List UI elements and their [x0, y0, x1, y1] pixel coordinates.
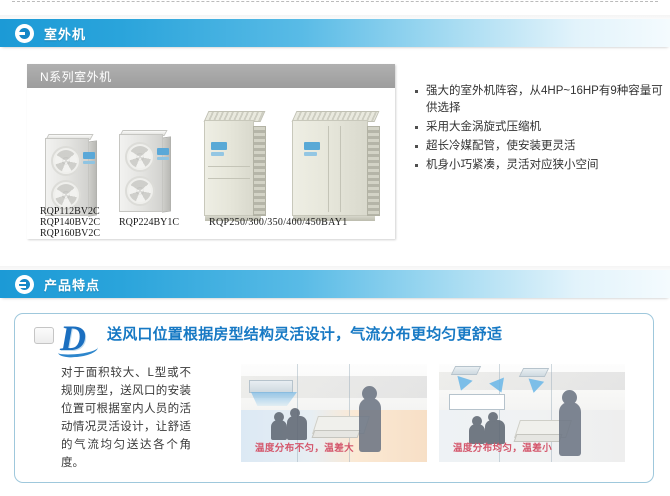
- section-title-product-features: 产品特点: [44, 275, 100, 294]
- feature-title: 送风口位置根据房型结构灵活设计，气流分布更均匀更舒适: [107, 323, 502, 344]
- feature-panel-airflow: D 送风口位置根据房型结构灵活设计，气流分布更均匀更舒适 对于面积较大、L型或不…: [14, 313, 654, 483]
- product-image-rqp250-450-twin: [292, 120, 380, 216]
- air-vent-icon: [249, 380, 293, 393]
- model-labels: RQP112BV2C RQP140BV2C RQP160BV2C RQP224B…: [27, 206, 407, 242]
- list-item: 强大的室外机阵容，从4HP~16HP有9种容量可供选择: [414, 83, 664, 117]
- air-vent-icon: [519, 368, 549, 377]
- section-title-outdoor-unit: 室外机: [44, 24, 86, 43]
- circle-arrow-icon: [15, 24, 34, 43]
- model-label-group-b: RQP224BY1C: [119, 217, 179, 228]
- illustration-caption: 温度分布均匀，温差小: [453, 440, 552, 454]
- section-header-product-features: 产品特点: [0, 270, 670, 298]
- list-item: 机身小巧紧凑，灵活对应狭小空间: [414, 157, 664, 174]
- logo-swoosh-icon: [58, 342, 99, 359]
- list-item: 超长冷媒配管，使安装更灵活: [414, 138, 664, 155]
- feature-checkbox[interactable]: [34, 327, 54, 344]
- showcase-header: N系列室外机: [27, 64, 395, 88]
- daikin-d-logo: D: [60, 320, 102, 356]
- model-label-group-a: RQP112BV2C RQP140BV2C RQP160BV2C: [40, 206, 100, 239]
- section-header-outdoor-unit: 室外机: [0, 19, 670, 47]
- outdoor-unit-feature-list: 强大的室外机阵容，从4HP~16HP有9种容量可供选择 采用大金涡旋式压缩机 超…: [414, 83, 664, 176]
- product-image-rqp250-450-single: [204, 120, 266, 216]
- model-label-group-c: RQP250/300/350/400/450BAY1: [209, 217, 348, 228]
- air-vent-icon: [451, 366, 481, 375]
- illustration-even-airflow: 温度分布均匀，温差小: [439, 364, 625, 462]
- circle-plug-icon: [15, 275, 34, 294]
- illustration-uneven-airflow: 温度分布不匀，温差大: [241, 364, 427, 462]
- showcase-title: N系列室外机: [40, 68, 112, 85]
- list-item: 采用大金涡旋式压缩机: [414, 119, 664, 136]
- top-dashed-divider: [12, 1, 658, 2]
- feature-description: 对于面积较大、L型或不规则房型，送风口的安装位置可根据室内人员的活动情况灵活设计…: [61, 364, 191, 472]
- illustration-caption: 温度分布不匀，温差大: [255, 440, 354, 454]
- product-image-rqp224: [119, 134, 171, 212]
- product-image-rqp112-160: [45, 138, 97, 216]
